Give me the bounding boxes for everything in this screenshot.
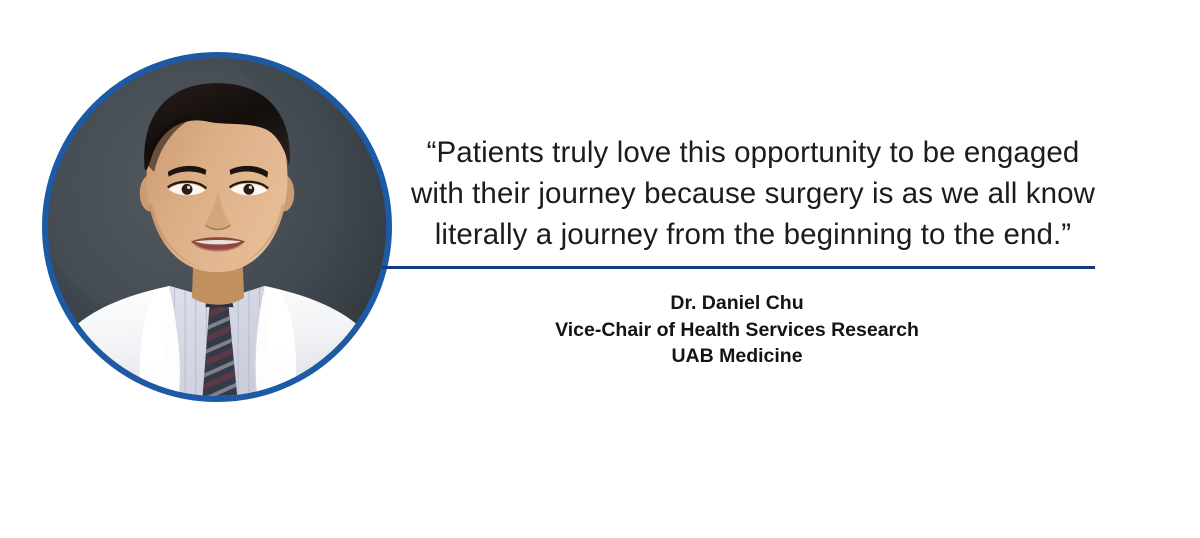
quote-line-2: with their journey because surgery is as… <box>400 173 1106 214</box>
quote-text: “Patients truly love this opportunity to… <box>400 132 1106 255</box>
portrait-avatar <box>42 52 392 402</box>
divider-rule <box>382 266 1095 269</box>
attribution-title: Vice-Chair of Health Services Research <box>487 317 987 344</box>
attribution-block: Dr. Daniel Chu Vice-Chair of Health Serv… <box>487 290 987 370</box>
attribution-organization: UAB Medicine <box>487 343 987 370</box>
quote-line-1: “Patients truly love this opportunity to… <box>400 132 1106 173</box>
quote-line-3: literally a journey from the beginning t… <box>400 214 1106 255</box>
portrait-image <box>48 58 386 396</box>
attribution-name: Dr. Daniel Chu <box>487 290 987 317</box>
testimonial-card: “Patients truly love this opportunity to… <box>0 0 1200 538</box>
